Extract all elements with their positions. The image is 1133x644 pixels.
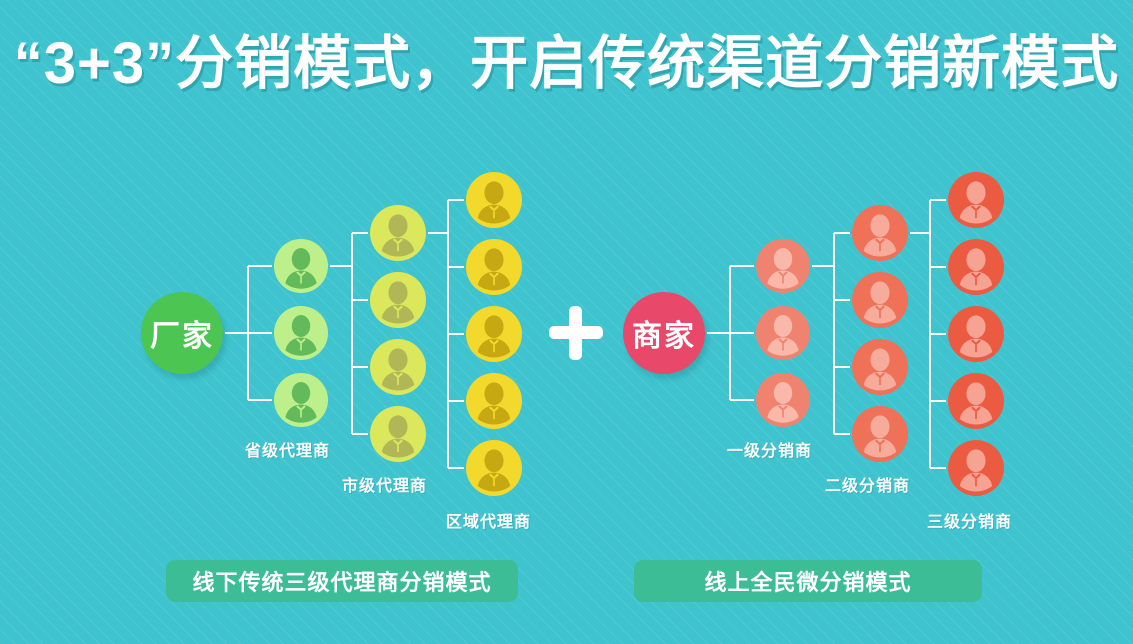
avatar-left-tier1-3[interactable] [274, 373, 328, 427]
avatar-left-tier1-2[interactable] [274, 306, 328, 360]
avatar-right-tier3-1[interactable] [948, 172, 1004, 228]
avatar-left-tier3-1[interactable] [466, 172, 522, 228]
tier-label-right-1: 一级分销商 [727, 437, 812, 461]
avatar-right-tier1-2[interactable] [756, 306, 810, 360]
avatar-right-tier1-3[interactable] [756, 373, 810, 427]
footer-pill-offline[interactable]: 线下传统三级代理商分销模式 [166, 560, 518, 602]
tier-label-left-3: 区域代理商 [446, 508, 531, 532]
tier-label-left-2: 市级代理商 [342, 472, 427, 496]
avatar-left-tier3-2[interactable] [466, 239, 522, 295]
avatar-right-tier1-1[interactable] [756, 239, 810, 293]
footer-pill-online[interactable]: 线上全民微分销模式 [634, 560, 982, 602]
avatar-left-tier2-1[interactable] [370, 205, 426, 261]
left-root-label: 厂家 [150, 311, 214, 355]
right-root-label: 商家 [632, 311, 696, 355]
avatar-right-tier2-3[interactable] [852, 339, 908, 395]
avatar-left-tier3-4[interactable] [466, 373, 522, 429]
plus-icon-vertical-bar [569, 306, 582, 360]
left-root-node[interactable]: 厂家 [141, 292, 223, 374]
page-title: “3+3”分销模式，开启传统渠道分销新模式 [0, 32, 1133, 96]
avatar-left-tier3-3[interactable] [466, 306, 522, 362]
avatar-left-tier2-2[interactable] [370, 272, 426, 328]
avatar-right-tier3-4[interactable] [948, 373, 1004, 429]
tier-label-left-1: 省级代理商 [245, 437, 330, 461]
avatar-left-tier1-1[interactable] [274, 239, 328, 293]
footer-pill-offline-label: 线下传统三级代理商分销模式 [192, 565, 491, 597]
tier-label-right-3: 三级分销商 [927, 508, 1012, 532]
avatar-right-tier2-2[interactable] [852, 272, 908, 328]
avatar-left-tier2-3[interactable] [370, 339, 426, 395]
footer-pill-online-label: 线上全民微分销模式 [704, 565, 911, 597]
avatar-right-tier2-1[interactable] [852, 205, 908, 261]
tier-label-right-2: 二级分销商 [825, 472, 910, 496]
avatar-left-tier3-5[interactable] [466, 440, 522, 496]
avatar-right-tier2-4[interactable] [852, 406, 908, 462]
avatar-left-tier2-4[interactable] [370, 406, 426, 462]
avatar-right-tier3-5[interactable] [948, 440, 1004, 496]
avatar-right-tier3-3[interactable] [948, 306, 1004, 362]
right-root-node[interactable]: 商家 [623, 292, 705, 374]
avatar-right-tier3-2[interactable] [948, 239, 1004, 295]
infographic-stage: “3+3”分销模式，开启传统渠道分销新模式 [0, 0, 1133, 644]
plus-icon [549, 306, 603, 360]
